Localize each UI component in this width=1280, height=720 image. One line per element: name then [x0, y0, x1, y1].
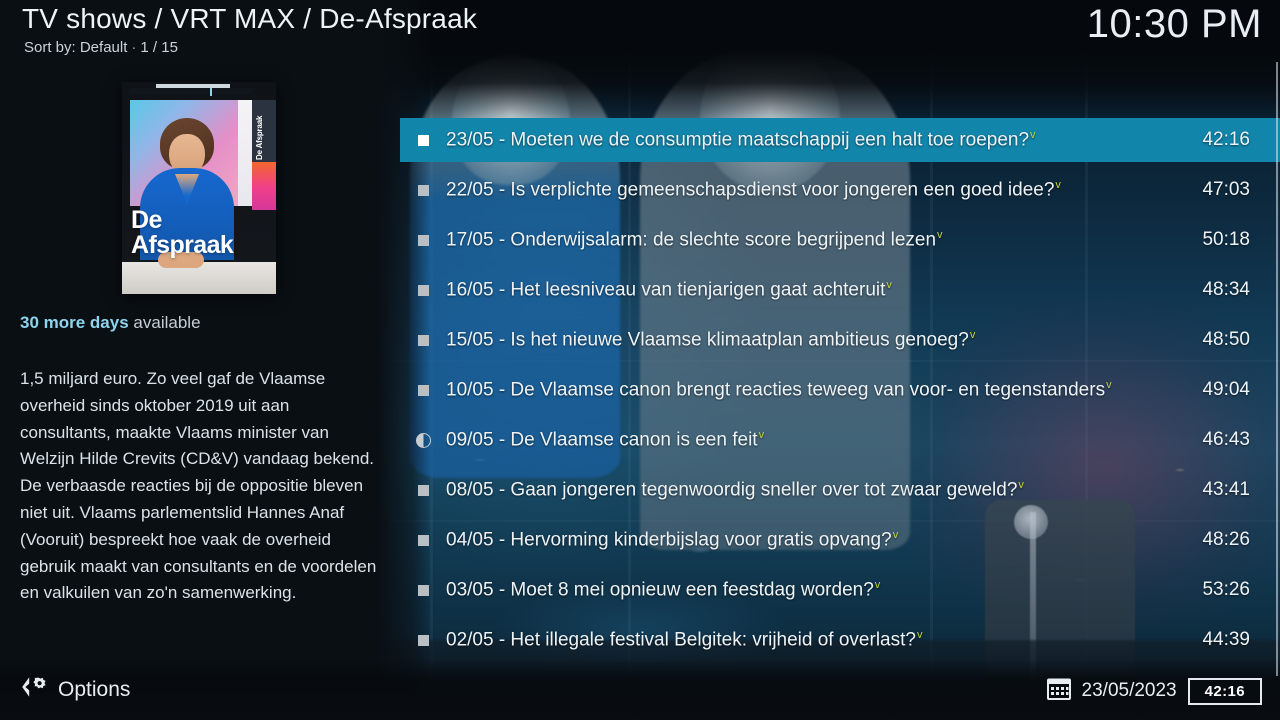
poster-screen-edge [238, 100, 252, 206]
episode-title: 03/05 - Moet 8 mei opnieuw een feestdag … [446, 579, 1202, 601]
footer-bar: Options 23/05/2023 42:16 [0, 666, 1280, 720]
episode-duration: 48:50 [1202, 329, 1280, 351]
air-date: 23/05/2023 [1082, 680, 1177, 702]
episode-row[interactable]: 17/05 - Onderwijsalarm: de slechte score… [400, 218, 1280, 262]
options-label: Options [58, 678, 130, 702]
watched-indicator [400, 635, 446, 646]
episode-title: 02/05 - Het illegale festival Belgitek: … [446, 629, 1202, 651]
duration-badge: 42:16 [1188, 678, 1262, 705]
unwatched-square-icon [418, 135, 429, 146]
options-button[interactable]: Options [20, 676, 130, 703]
episode-title: 15/05 - Is het nieuwe Vlaamse klimaatpla… [446, 329, 1202, 351]
watched-indicator-half [400, 433, 446, 448]
episode-row[interactable]: 08/05 - Gaan jongeren tegenwoordig snell… [400, 468, 1280, 512]
subtitle-badge: v [937, 229, 943, 241]
watched-indicator [400, 585, 446, 596]
breadcrumb: TV shows / VRT MAX / De-Afspraak [22, 3, 477, 35]
options-icon [20, 676, 46, 703]
episode-row[interactable]: 03/05 - Moet 8 mei opnieuw een feestdag … [400, 568, 1280, 612]
episode-duration: 46:43 [1202, 429, 1280, 451]
poster-side-orange [252, 162, 276, 188]
clock: 10:30 PM [1087, 2, 1262, 47]
show-poster[interactable]: De Afspraak De Afspraak [122, 82, 276, 294]
subtitle-badge: v [893, 529, 899, 541]
watched-indicator [400, 285, 446, 296]
poster-side-logo: De Afspraak [255, 108, 273, 160]
unwatched-square-icon [418, 385, 429, 396]
unwatched-square-icon [418, 185, 429, 196]
episode-duration: 43:41 [1202, 479, 1280, 501]
episode-duration: 44:39 [1202, 629, 1280, 651]
watched-indicator [400, 385, 446, 396]
episode-title: 09/05 - De Vlaamse canon is een feitv [446, 429, 1202, 451]
plot-text: 1,5 miljard euro. Zo veel gaf de Vlaamse… [20, 366, 382, 607]
sort-separator: · [127, 39, 140, 56]
subtitle-badge: v [875, 579, 881, 591]
unwatched-square-icon [418, 635, 429, 646]
calendar-icon [1047, 677, 1071, 705]
availability-days: 30 more days [20, 313, 129, 332]
episode-title: 17/05 - Onderwijsalarm: de slechte score… [446, 229, 1202, 251]
subtitle-badge: v [970, 329, 976, 341]
episode-title: 16/05 - Het leesniveau van tienjarigen g… [446, 279, 1202, 301]
subtitle-badge: v [1018, 479, 1024, 491]
episode-row[interactable]: 02/05 - Het illegale festival Belgitek: … [400, 618, 1280, 662]
unwatched-square-icon [418, 335, 429, 346]
unwatched-square-icon [418, 535, 429, 546]
episode-duration: 49:04 [1202, 379, 1280, 401]
sort-line: Sort by: Default·1 / 15 [24, 39, 178, 56]
episode-row[interactable]: 09/05 - De Vlaamse canon is een feitv46:… [400, 418, 1280, 462]
episode-duration: 47:03 [1202, 179, 1280, 201]
episode-row[interactable]: 15/05 - Is het nieuwe Vlaamse klimaatpla… [400, 318, 1280, 362]
kodi-screen: TV shows / VRT MAX / De-Afspraak Sort by… [0, 0, 1280, 720]
poster-artwork: De Afspraak De Afspraak [122, 82, 276, 294]
subtitle-badge: v [1030, 129, 1036, 141]
episode-duration: 48:26 [1202, 529, 1280, 551]
poster-title-line-2: Afspraak [131, 233, 233, 258]
poster-top-tick [210, 88, 212, 96]
poster-side-magenta [252, 188, 276, 210]
poster-top-bar [130, 88, 252, 94]
header: TV shows / VRT MAX / De-Afspraak Sort by… [0, 0, 1280, 62]
subtitle-badge: v [1106, 379, 1112, 391]
watched-indicator [400, 485, 446, 496]
episode-duration: 42:16 [1202, 129, 1280, 151]
subtitle-badge: v [886, 279, 892, 291]
episode-title: 04/05 - Hervorming kinderbijslag voor gr… [446, 529, 1202, 551]
unwatched-square-icon [418, 585, 429, 596]
sort-label[interactable]: Sort by: Default [24, 39, 127, 56]
episode-title: 23/05 - Moeten we de consumptie maatscha… [446, 129, 1202, 151]
subtitle-badge: v [1055, 179, 1061, 191]
watched-indicator [400, 135, 446, 146]
episode-duration: 48:34 [1202, 279, 1280, 301]
episode-row[interactable]: 22/05 - Is verplichte gemeenschapsdienst… [400, 168, 1280, 212]
unwatched-square-icon [418, 485, 429, 496]
episode-row[interactable]: 04/05 - Hervorming kinderbijslag voor gr… [400, 518, 1280, 562]
subtitle-badge: v [917, 629, 923, 641]
watched-indicator [400, 185, 446, 196]
watched-indicator [400, 235, 446, 246]
episode-list[interactable]: 23/05 - Moeten we de consumptie maatscha… [400, 118, 1280, 666]
episode-row[interactable]: 23/05 - Moeten we de consumptie maatscha… [400, 118, 1280, 162]
watched-indicator [400, 535, 446, 546]
episode-title: 08/05 - Gaan jongeren tegenwoordig snell… [446, 479, 1202, 501]
partially-watched-icon [416, 433, 431, 448]
episode-row[interactable]: 16/05 - Het leesniveau van tienjarigen g… [400, 268, 1280, 312]
episode-title: 22/05 - Is verplichte gemeenschapsdienst… [446, 179, 1202, 201]
unwatched-square-icon [418, 235, 429, 246]
episode-duration: 50:18 [1202, 229, 1280, 251]
episode-duration: 53:26 [1202, 579, 1280, 601]
episode-title: 10/05 - De Vlaamse canon brengt reacties… [446, 379, 1202, 401]
poster-title: De Afspraak [131, 208, 233, 258]
watched-indicator [400, 335, 446, 346]
availability-note: 30 more days available [20, 313, 201, 333]
availability-suffix: available [133, 313, 200, 332]
unwatched-square-icon [418, 285, 429, 296]
poster-top-bar-light [156, 84, 230, 88]
item-position: 1 / 15 [140, 39, 178, 56]
list-scrollbar[interactable] [1276, 62, 1278, 676]
subtitle-badge: v [759, 429, 765, 441]
poster-title-line-1: De [131, 208, 233, 233]
episode-row[interactable]: 10/05 - De Vlaamse canon brengt reacties… [400, 368, 1280, 412]
footer-meta: 23/05/2023 42:16 [1047, 677, 1262, 705]
